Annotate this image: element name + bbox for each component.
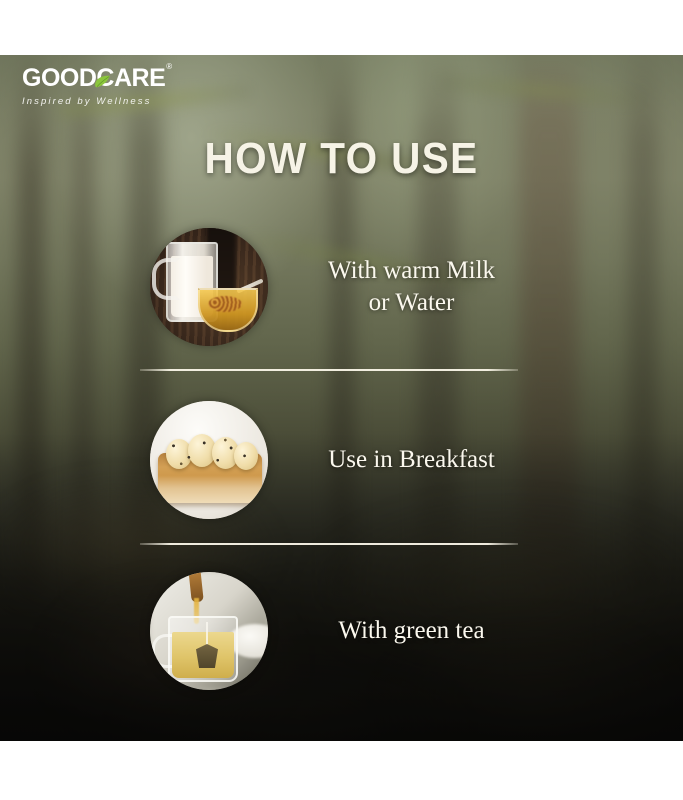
step-image-green-tea [150, 572, 268, 690]
logo-word-part2: D [79, 64, 97, 92]
logo-word-part1: GOO [22, 64, 79, 92]
page-title: HOW TO USE [27, 134, 655, 184]
registered-trademark-icon: ® [166, 63, 171, 71]
honey-texture [208, 296, 242, 312]
step-caption: With green tea [290, 615, 683, 647]
goodcare-logo: GOODCARE® Inspired by Wellness [22, 66, 192, 107]
step-row: With green tea [0, 567, 683, 695]
step-row: Use in Breakfast [0, 396, 683, 524]
step-image-breakfast [150, 401, 268, 519]
how-to-use-poster: GOODCARE® Inspired by Wellness HOW TO US… [0, 0, 683, 800]
step-row: With warm Milk or Water [0, 223, 683, 351]
step-image-milk [150, 228, 268, 346]
teabag-string [206, 622, 208, 646]
logo-tagline: Inspired by Wellness [22, 96, 192, 107]
section-divider [140, 543, 518, 545]
section-divider [140, 369, 518, 371]
seeds-topping [162, 435, 258, 471]
mug-handle-icon [152, 258, 180, 300]
glass-mug-icon [168, 616, 238, 682]
step-caption: Use in Breakfast [290, 444, 683, 476]
logo-wordmark: GOODCARE® [22, 66, 192, 91]
step-caption: With warm Milk or Water [290, 255, 683, 319]
logo-word-part3: CARE [96, 64, 165, 92]
